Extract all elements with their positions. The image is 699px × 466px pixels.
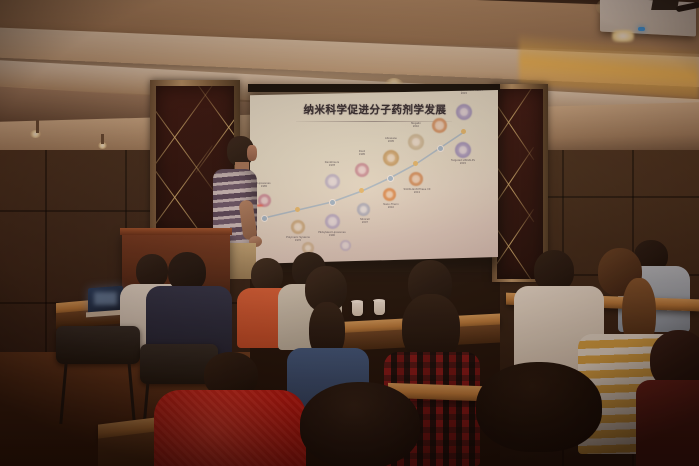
timeline-node: [461, 129, 466, 134]
decorative-lattice-panel: [497, 89, 543, 279]
nanoparticle-icon-peg-liposome: [325, 214, 340, 229]
timeline-node: [359, 188, 364, 193]
projector-mount: [651, 0, 679, 10]
ceiling-pendant-rod: [101, 134, 104, 144]
chair-backrest: [56, 326, 140, 364]
head: [136, 254, 168, 288]
presenter-face: [247, 145, 257, 161]
projector-lens: [612, 30, 634, 42]
milestone-label: Minicell2007: [345, 218, 385, 224]
ceiling-pendant-rod: [36, 120, 39, 133]
lecture-hall-photograph: 纳米科学促进分子药剂学发展 Liposomes1965 Dendrimers19…: [0, 0, 699, 466]
milestone-label: Dendrimers1978: [312, 161, 352, 167]
nanoparticle-icon-sirna: [455, 142, 471, 158]
paper-cup-rim: [373, 299, 385, 302]
projector-status-led: [638, 27, 645, 31]
milestone-label: Doxil1995: [342, 150, 382, 156]
head: [476, 362, 602, 452]
nanoparticle-icon-nanoshell: [408, 134, 424, 150]
timeline-node: [387, 175, 394, 182]
milestone-label: Kadcyla2013: [420, 105, 460, 111]
milestone-label: SGNG-EvN Phase I/II2013: [397, 188, 437, 194]
milestone-label: Targeted siSNALPs2015: [443, 159, 483, 165]
laptop-screen-glow: [94, 292, 117, 305]
nanoparticle-icon-abraxane: [383, 150, 399, 166]
timeline-node: [295, 207, 300, 212]
milestone-label: Megalin2010: [396, 122, 436, 128]
red-lace-top: [154, 390, 306, 466]
nanoparticle-icon-extra: [340, 240, 351, 251]
nanoparticle-icon-dendrimer: [325, 174, 340, 189]
projection-screen: 纳米科学促进分子药剂学发展 Liposomes1965 Dendrimers19…: [250, 90, 498, 264]
podium-top-edge: [120, 228, 232, 235]
milestone-label: Abraxane2005: [371, 137, 411, 143]
nanoparticle-icon-targeted-liposome: [456, 104, 472, 120]
paper-cup[interactable]: [352, 301, 363, 316]
paper-cup[interactable]: [374, 300, 385, 315]
head: [251, 258, 283, 292]
milestone-label: PEGylated Liposomes1990: [312, 231, 352, 237]
torso: [636, 380, 699, 466]
nanoparticle-icon-adc: [432, 118, 447, 133]
head: [300, 382, 420, 466]
nanoparticle-icon-polymer: [291, 220, 305, 234]
timeline-node: [437, 145, 444, 152]
nanoparticle-icon-doxil: [355, 163, 369, 177]
paper-cup-rim: [351, 300, 363, 303]
timeline-node: [329, 199, 336, 206]
nanoparticle-icon-minicell: [357, 203, 370, 216]
nanoparticle-icon-conjugate: [409, 172, 423, 186]
timeline-node: [413, 161, 418, 166]
nanoparticle-icon-iron-oxide: [383, 188, 396, 201]
milestone-label: Nano-Therm2010: [371, 203, 411, 209]
